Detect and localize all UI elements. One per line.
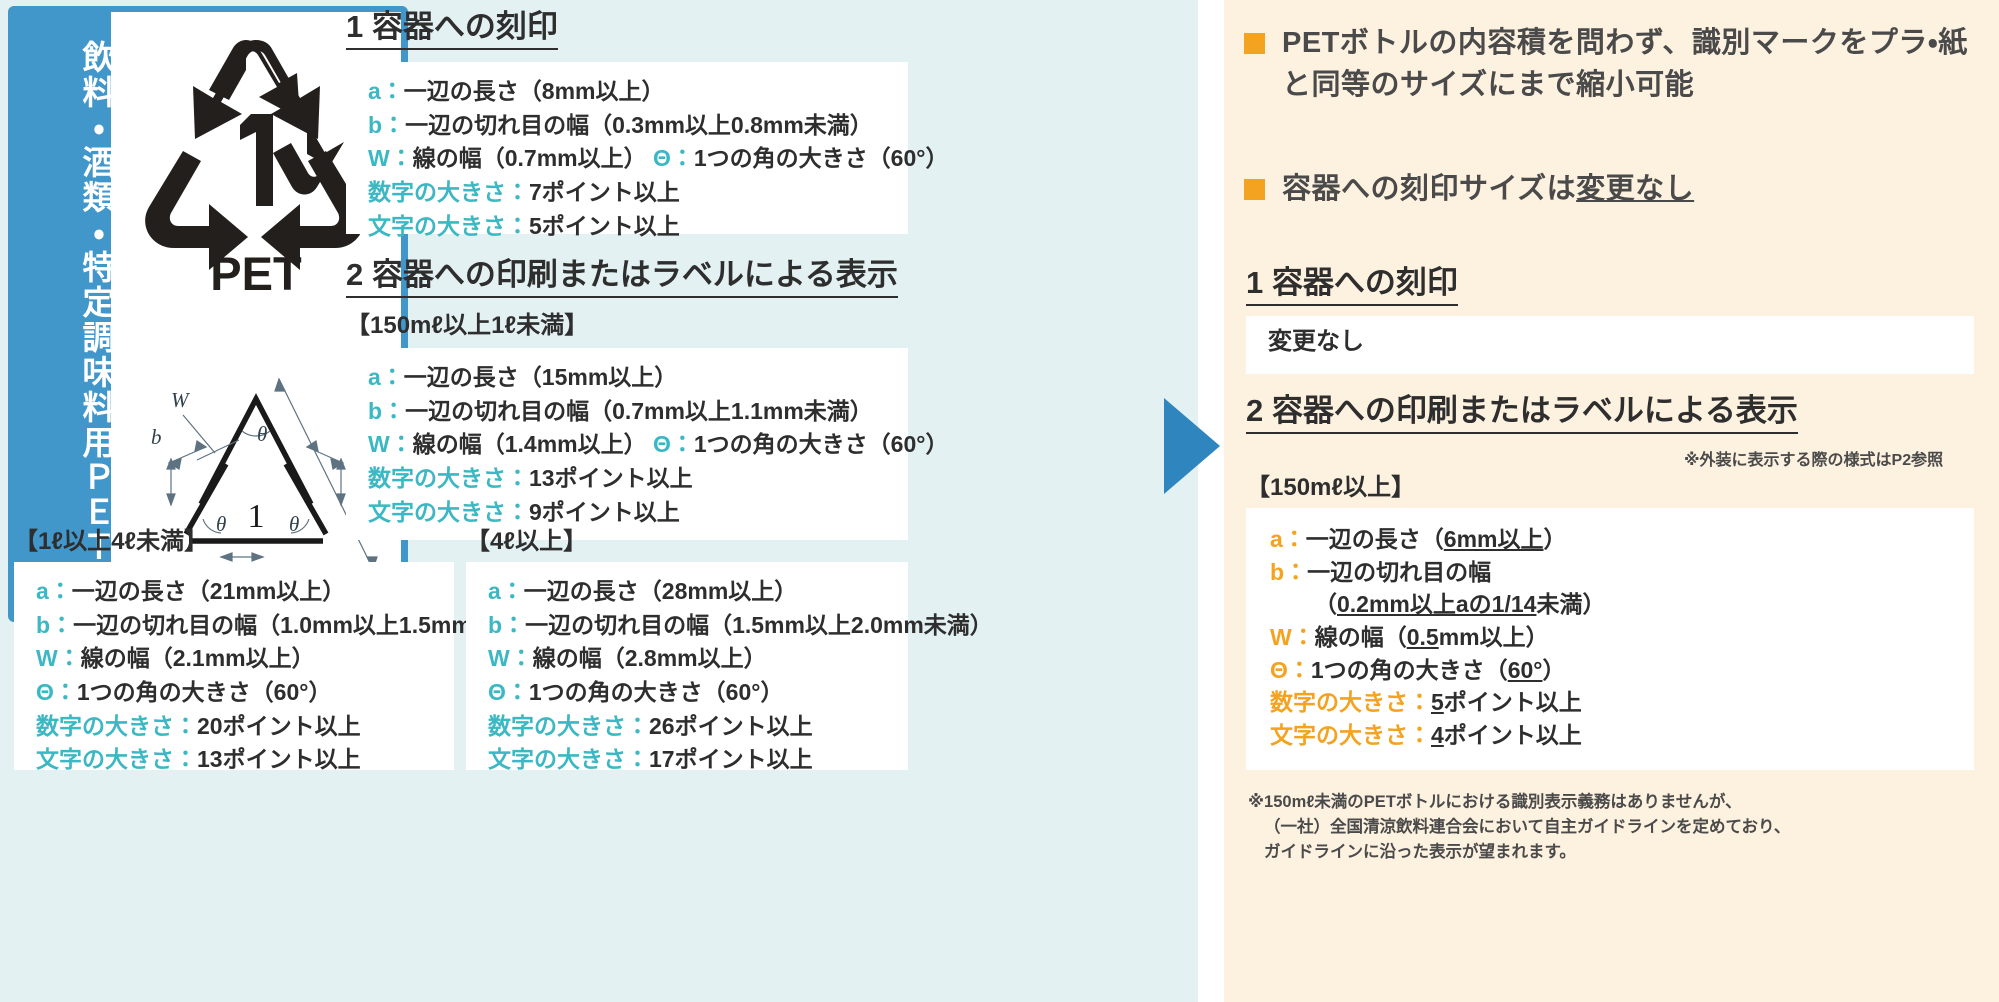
spec-row: 文字の大きさ：13ポイント以上 xyxy=(36,743,454,776)
pet-mark-caption: PET xyxy=(210,247,302,300)
spec-row: Θ：1つの角の大きさ（60°） xyxy=(488,676,908,709)
spec-row: 文字の大きさ：4ポイント以上 xyxy=(1270,719,1974,752)
spec-row: W：線の幅（0.7mm以上） Θ：1つの角の大きさ（60°） xyxy=(368,142,908,175)
diagram-label-theta-left: θ xyxy=(216,512,226,536)
range-heading-150ml-1l: 【150mℓ以上1ℓ未満】 xyxy=(346,312,588,341)
spec-row: W：線の幅（2.1mm以上） xyxy=(36,642,454,675)
spec-row: a：一辺の長さ（15mm以上） xyxy=(368,361,908,394)
right-arrow-icon xyxy=(1164,398,1220,494)
new-rules-panel: PETボトルの内容積を問わず、識別マークをプラ・紙と同等のサイズにまで縮小可能 … xyxy=(1224,0,1999,1002)
spec-row: b：一辺の切れ目の幅（0.3mm以上0.8mm未満） xyxy=(368,109,908,142)
spec-row: Θ：1つの角の大きさ（60°） xyxy=(1270,654,1974,687)
square-bullet-icon xyxy=(1244,179,1265,200)
bullet-item: 容器への刻印サイズは変更なし xyxy=(1244,168,1984,210)
spec-box-1l-4l: a：一辺の長さ（21mm以上） b：一辺の切れ目の幅（1.0mm以上1.5mm未… xyxy=(14,562,454,770)
bullet-text: 容器への刻印サイズは変更なし xyxy=(1282,168,1694,210)
new-section-1-heading: 1 容器への刻印 xyxy=(1246,264,1458,306)
spec-row: Θ：1つの角の大きさ（60°） xyxy=(36,676,454,709)
new-section-2-heading: 2 容器への印刷またはラベルによる表示 xyxy=(1246,392,1798,434)
spec-row: b：一辺の切れ目の幅（1.0mm以上1.5mm未満） xyxy=(36,609,454,642)
section-2-heading: 2 容器への印刷またはラベルによる表示 xyxy=(346,256,898,298)
spec-row: 数字の大きさ：20ポイント以上 xyxy=(36,710,454,743)
spec-row: W：線の幅（0.5mm以上） xyxy=(1270,621,1974,654)
spec-row: a：一辺の長さ（28mm以上） xyxy=(488,575,908,608)
footnote-block: ※150mℓ未満のPETボトルにおける識別表示義務はありませんが、 （一社）全国… xyxy=(1248,790,1974,864)
diagram-label-b-left: b xyxy=(151,425,162,449)
section-1-spec-box: a：一辺の長さ（8mm以上） b：一辺の切れ目の幅（0.3mm以上0.8mm未満… xyxy=(346,62,908,234)
spec-row: 数字の大きさ：7ポイント以上 xyxy=(368,176,908,209)
square-bullet-icon xyxy=(1244,33,1265,54)
footnote-line: （一社）全国清涼飲料連合会において自主ガイドラインを定めており、 xyxy=(1248,815,1974,840)
spec-row: 文字の大きさ：5ポイント以上 xyxy=(368,210,908,243)
spec-row: 数字の大きさ：5ポイント以上 xyxy=(1270,686,1974,719)
spec-row: W：線の幅（1.4mm以上） Θ：1つの角の大きさ（60°） xyxy=(368,428,908,461)
spec-row: 文字の大きさ：17ポイント以上 xyxy=(488,743,908,776)
infographic-page: 飲料・酒類・特定調味料用ＰＥＴボトル xyxy=(0,0,1999,1002)
spec-row: b：一辺の切れ目の幅 xyxy=(1270,556,1974,589)
bullet-item: PETボトルの内容積を問わず、識別マークをプラ・紙と同等のサイズにまで縮小可能 xyxy=(1244,22,1984,107)
range-heading-4l-plus: 【4ℓ以上】 xyxy=(466,528,587,557)
spec-row: W：線の幅（2.8mm以上） xyxy=(488,642,908,675)
spec-row: a：一辺の長さ（21mm以上） xyxy=(36,575,454,608)
footnote-line: ※150mℓ未満のPETボトルにおける識別表示義務はありませんが、 xyxy=(1248,790,1974,815)
spec-row: b：一辺の切れ目の幅（1.5mm以上2.0mm未満） xyxy=(488,609,908,642)
current-rules-panel: 飲料・酒類・特定調味料用ＰＥＴボトル xyxy=(0,0,1198,1002)
new-section-1-body: 変更なし xyxy=(1268,327,1974,357)
spec-row: b：一辺の切れ目の幅（0.7mm以上1.1mm未満） xyxy=(368,395,908,428)
bullet-text: PETボトルの内容積を問わず、識別マークをプラ・紙と同等のサイズにまで縮小可能 xyxy=(1282,22,1984,107)
diagram-label-theta-right: θ xyxy=(289,512,299,536)
spec-box-150ml-1l: a：一辺の長さ（15mm以上） b：一辺の切れ目の幅（0.7mm以上1.1mm未… xyxy=(346,348,908,540)
spec-row: 数字の大きさ：26ポイント以上 xyxy=(488,710,908,743)
spec-box-4l-plus: a：一辺の長さ（28mm以上） b：一辺の切れ目の幅（1.5mm以上2.0mm未… xyxy=(466,562,908,770)
spec-row: a：一辺の長さ（6mm以上） xyxy=(1270,523,1974,556)
new-spec-box-150ml: a：一辺の長さ（6mm以上） b：一辺の切れ目の幅 （0.2mm以上aの1/14… xyxy=(1246,508,1974,770)
range-heading-1l-4l: 【1ℓ以上4ℓ未満】 xyxy=(14,528,208,557)
diagram-numeral-1: 1 xyxy=(248,498,265,535)
spec-row: a：一辺の長さ（8mm以上） xyxy=(368,75,908,108)
new-range-heading-150ml: 【150mℓ以上】 xyxy=(1246,474,1415,503)
footnote-line: ガイドラインに沿った表示が望まれます。 xyxy=(1248,840,1974,865)
spec-row-cont: （0.2mm以上aの1/14未満） xyxy=(1270,588,1974,621)
spec-row: 文字の大きさ：9ポイント以上 xyxy=(368,496,908,529)
diagram-label-theta-top: θ xyxy=(257,422,267,446)
new-section-1-box: 変更なし xyxy=(1246,316,1974,374)
diagram-label-w: W xyxy=(171,388,191,412)
section-1-heading: 1 容器への刻印 xyxy=(346,8,558,50)
category-label: 飲料・酒類・特定調味料用ＰＥＴボトル xyxy=(18,40,114,600)
spec-row: 数字の大きさ：13ポイント以上 xyxy=(368,462,908,495)
external-packaging-note: ※外装に表示する際の様式はP2参照 xyxy=(1684,446,1943,470)
